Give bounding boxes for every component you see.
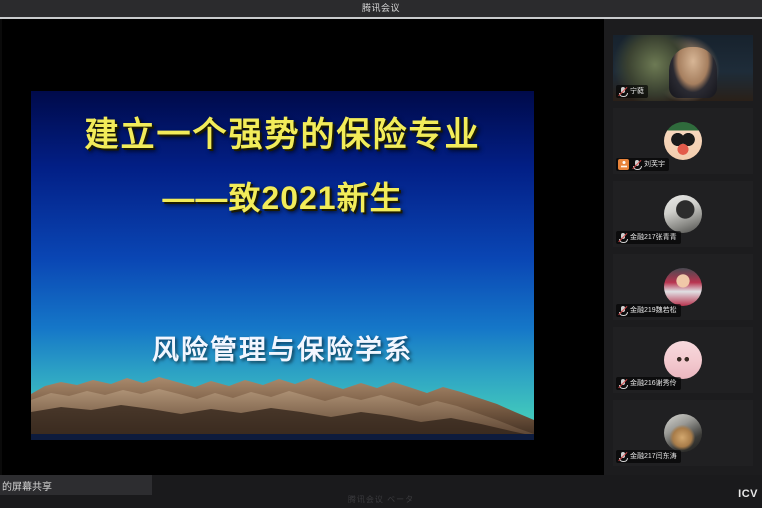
app-title: 腾讯会议 (362, 4, 400, 13)
screen-share-status-banner: 的屏幕共享 (0, 475, 152, 495)
microphone-muted-icon (618, 233, 627, 243)
participant-tile[interactable]: 金融217张青青 (613, 181, 753, 247)
microphone-muted-icon (618, 379, 627, 389)
slide-subtitle: ——致2021新生 (31, 181, 534, 216)
participant-name: 金融217张青青 (630, 232, 677, 243)
participant-namebar: 金融216谢秀伶 (616, 377, 681, 390)
avatar (664, 122, 702, 160)
avatar (664, 341, 702, 379)
participant-namebar: 金融217张青青 (616, 231, 681, 244)
window-titlebar: 腾讯会议 (0, 0, 762, 17)
bottom-center-hint: 腾讯会议 ベータ (0, 494, 762, 505)
avatar (664, 268, 702, 306)
microphone-muted-icon (618, 87, 627, 97)
avatar (664, 195, 702, 233)
bottom-right-label: ICV (738, 488, 758, 500)
mountain-illustration (31, 360, 534, 440)
participant-name: 宁蕤 (630, 86, 644, 97)
microphone-muted-icon (632, 160, 641, 170)
shared-screen-stage[interactable]: 建立一个强势的保险专业 ——致2021新生 风险管理与保险学系 (0, 19, 604, 475)
avatar (664, 414, 702, 452)
slide-title: 建立一个强势的保险专业 (31, 117, 534, 154)
participant-namebar: 金融219魏若松 (616, 304, 681, 317)
stage-left-edge (0, 19, 2, 475)
bottom-toolbar[interactable]: 的屏幕共享 腾讯会议 ベータ ICV (0, 475, 762, 508)
microphone-muted-icon (618, 452, 627, 462)
participant-name: 金融216谢秀伶 (630, 378, 677, 389)
participant-namebar: 刘芙宇 (616, 158, 669, 171)
slide-bottom-edge (31, 434, 534, 440)
participant-name: 刘芙宇 (644, 159, 665, 170)
host-badge-icon (618, 159, 629, 170)
participant-tile[interactable]: 金融219魏若松 (613, 254, 753, 320)
participant-filmstrip[interactable]: 宁蕤 刘芙宇 金融217张青青 (604, 19, 762, 475)
presentation-slide: 建立一个强势的保险专业 ——致2021新生 风险管理与保险学系 (31, 91, 534, 440)
participant-namebar: 金融217闫东涛 (616, 450, 681, 463)
participant-name: 金融217闫东涛 (630, 451, 677, 462)
participant-tile[interactable]: 金融216谢秀伶 (613, 327, 753, 393)
tencent-meeting-window: 腾讯会议 建立一个强势的保险专业 ——致2021新生 风险管理与保险学系 (0, 0, 762, 508)
microphone-muted-icon (618, 306, 627, 316)
participant-tile[interactable]: 金融217闫东涛 (613, 400, 753, 466)
participant-tile[interactable]: 刘芙宇 (613, 108, 753, 174)
participant-namebar: 宁蕤 (616, 85, 648, 98)
screen-share-status-text: 的屏幕共享 (2, 478, 52, 493)
participant-tile[interactable]: 宁蕤 (613, 35, 753, 101)
participant-name: 金融219魏若松 (630, 305, 677, 316)
